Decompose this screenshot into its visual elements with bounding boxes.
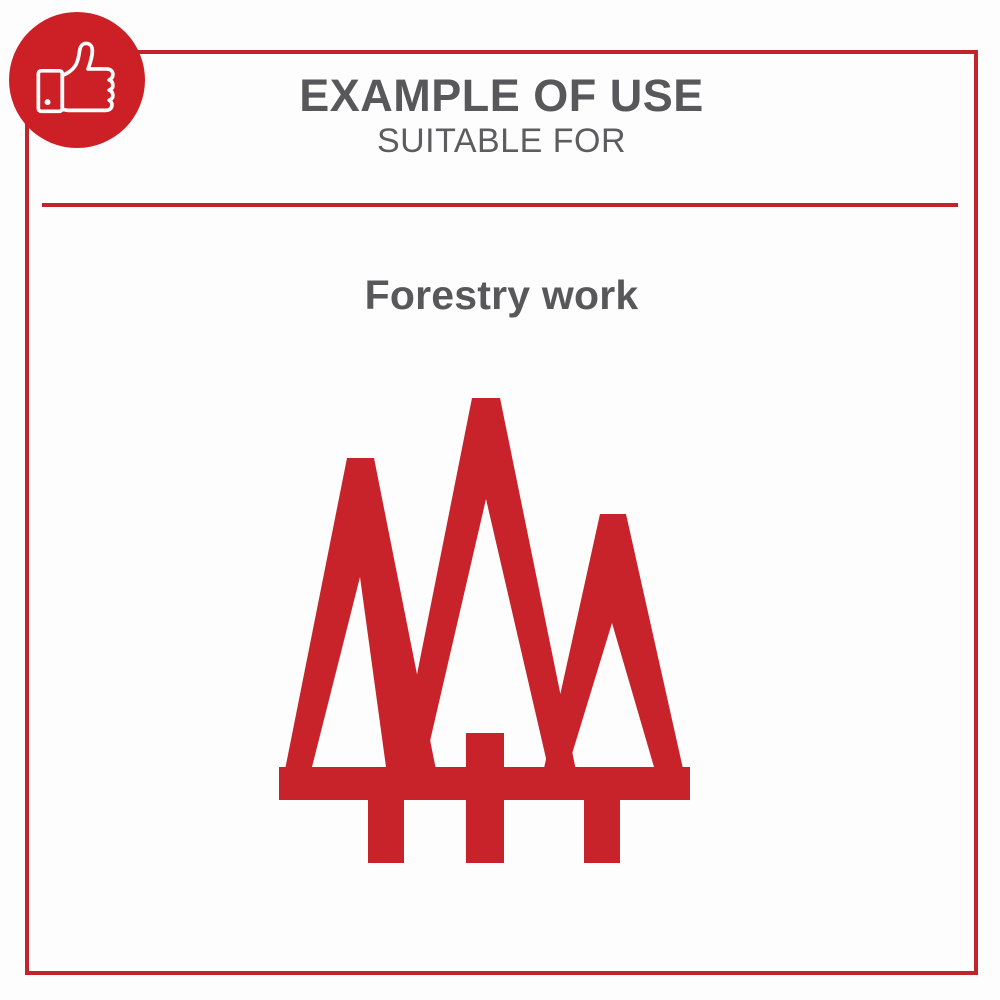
thumbs-up-icon <box>31 34 123 126</box>
page-subtitle: SUITABLE FOR <box>25 119 978 165</box>
forest-trees-icon <box>252 395 714 863</box>
header-divider <box>42 203 958 207</box>
example-of-use-card: EXAMPLE OF USE SUITABLE FOR Forestry wor… <box>0 0 1000 1000</box>
forest-pictogram <box>252 395 714 863</box>
usage-caption: Forestry work <box>25 272 978 319</box>
page-title: EXAMPLE OF USE <box>25 72 978 119</box>
card-header: EXAMPLE OF USE SUITABLE FOR <box>25 72 978 165</box>
thumbs-up-badge <box>9 12 145 148</box>
